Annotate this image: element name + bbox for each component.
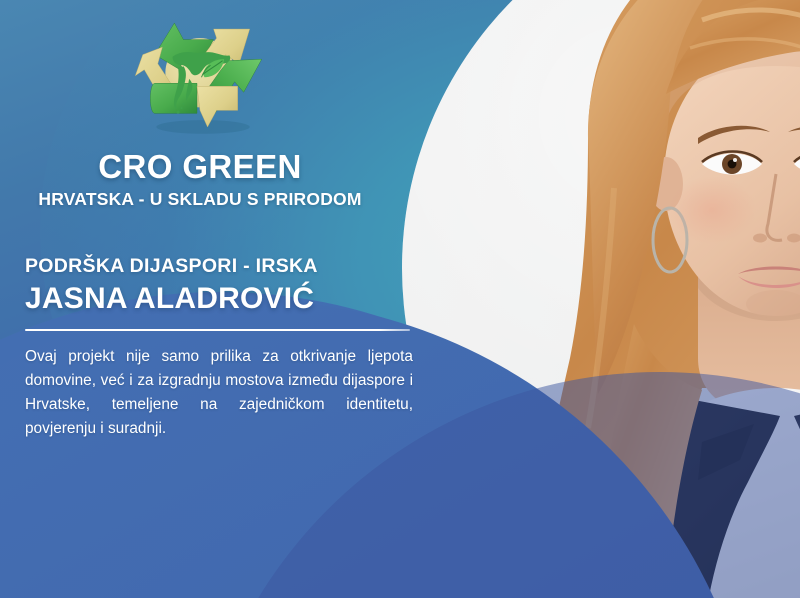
feature-divider (25, 329, 410, 331)
feature-text-block: PODRŠKA DIJASPORI - IRSKA JASNA ALADROVI… (25, 255, 415, 441)
feature-kicker: PODRŠKA DIJASPORI - IRSKA (25, 255, 415, 278)
feature-person-name: JASNA ALADROVIĆ (25, 282, 415, 316)
promo-poster: CRO GREEN HRVATSKA - U SKLADU S PRIRODOM… (0, 0, 800, 598)
feature-quote: Ovaj projekt nije samo prilika za otkriv… (25, 345, 413, 441)
brand-subtitle: HRVATSKA - U SKLADU S PRIRODOM (0, 189, 400, 210)
brand-title: CRO GREEN (0, 148, 400, 186)
brand-logo-block: CRO GREEN HRVATSKA - U SKLADU S PRIRODOM (0, 14, 400, 210)
recycling-croatia-leaf-logo-icon (124, 14, 276, 142)
